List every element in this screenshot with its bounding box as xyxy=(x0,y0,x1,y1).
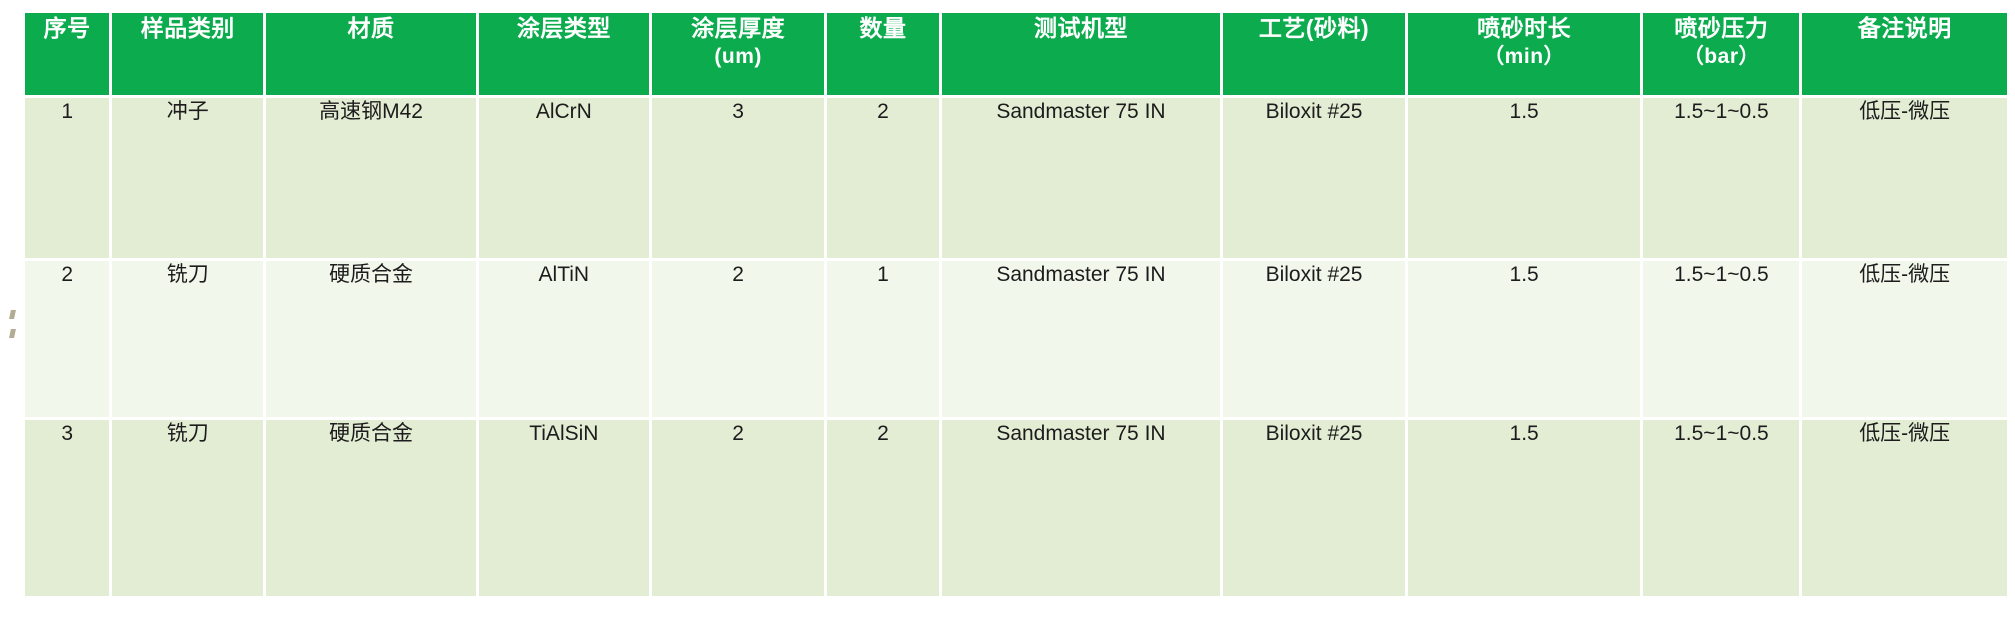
cell-process-media: Biloxit #25 xyxy=(1223,98,1405,258)
cell-blast-pressure: 1.5~1~0.5 xyxy=(1643,420,1799,596)
cell-blast-pressure: 1.5~1~0.5 xyxy=(1643,261,1799,417)
cell-material: 高速钢M42 xyxy=(266,98,476,258)
column-header-blast-pressure-label: 喷砂压力 xyxy=(1674,15,1768,41)
column-header-test-machine: 测试机型 xyxy=(942,13,1221,95)
header-row: 序号 样品类别 材质 涂层类型 涂层厚度 (um) 数量 xyxy=(25,13,2007,95)
cell-remark: 低压-微压 xyxy=(1802,261,2007,417)
column-header-quantity: 数量 xyxy=(827,13,938,95)
cell-sample-type: 铣刀 xyxy=(112,261,263,417)
cell-test-machine: Sandmaster 75 IN xyxy=(942,420,1221,596)
cell-remark: 低压-微压 xyxy=(1802,98,2007,258)
cell-no: 2 xyxy=(25,261,109,417)
column-header-process-media-label: 工艺(砂料) xyxy=(1259,15,1369,41)
column-header-remark: 备注说明 xyxy=(1802,13,2007,95)
sandblast-parameters-table: 序号 样品类别 材质 涂层类型 涂层厚度 (um) 数量 xyxy=(22,10,2010,599)
cell-no: 1 xyxy=(25,98,109,258)
cell-blast-time: 1.5 xyxy=(1408,261,1641,417)
cell-remark: 低压-微压 xyxy=(1802,420,2007,596)
column-header-coating-type-label: 涂层类型 xyxy=(517,15,611,41)
table-header: 序号 样品类别 材质 涂层类型 涂层厚度 (um) 数量 xyxy=(25,13,2007,95)
cell-coating-thickness: 2 xyxy=(652,261,825,417)
cell-material: 硬质合金 xyxy=(266,261,476,417)
cell-blast-time: 1.5 xyxy=(1408,98,1641,258)
column-header-blast-pressure-unit: （bar） xyxy=(1643,43,1799,71)
table-row: 2 铣刀 硬质合金 AlTiN 2 1 Sandmaster 75 IN Bil… xyxy=(25,261,2007,417)
column-header-coating-type: 涂层类型 xyxy=(479,13,649,95)
column-header-coating-thickness-label: 涂层厚度 xyxy=(691,15,785,41)
column-header-test-machine-label: 测试机型 xyxy=(1034,15,1128,41)
cell-process-media: Biloxit #25 xyxy=(1223,420,1405,596)
cell-quantity: 2 xyxy=(827,420,938,596)
cell-sample-type: 铣刀 xyxy=(112,420,263,596)
table-body: 1 冲子 高速钢M42 AlCrN 3 2 Sandmaster 75 IN B… xyxy=(25,98,2007,596)
cell-blast-pressure: 1.5~1~0.5 xyxy=(1643,98,1799,258)
column-header-coating-thickness-unit: (um) xyxy=(652,43,825,71)
cell-process-media: Biloxit #25 xyxy=(1223,261,1405,417)
table-row: 1 冲子 高速钢M42 AlCrN 3 2 Sandmaster 75 IN B… xyxy=(25,98,2007,258)
cell-test-machine: Sandmaster 75 IN xyxy=(942,98,1221,258)
column-header-remark-label: 备注说明 xyxy=(1858,15,1952,41)
column-header-sample-type-label: 样品类别 xyxy=(141,15,235,41)
cell-test-machine: Sandmaster 75 IN xyxy=(942,261,1221,417)
left-edge-artifact xyxy=(4,300,20,340)
column-header-coating-thickness: 涂层厚度 (um) xyxy=(652,13,825,95)
cell-coating-type: TiAlSiN xyxy=(479,420,649,596)
screenshot-canvas: 序号 样品类别 材质 涂层类型 涂层厚度 (um) 数量 xyxy=(0,0,2015,637)
column-header-blast-time-unit: （min） xyxy=(1408,43,1641,71)
cell-material: 硬质合金 xyxy=(266,420,476,596)
cell-blast-time: 1.5 xyxy=(1408,420,1641,596)
column-header-material: 材质 xyxy=(266,13,476,95)
column-header-process-media: 工艺(砂料) xyxy=(1223,13,1405,95)
cell-coating-type: AlTiN xyxy=(479,261,649,417)
cell-quantity: 2 xyxy=(827,98,938,258)
column-header-quantity-label: 数量 xyxy=(860,15,907,41)
column-header-no: 序号 xyxy=(25,13,109,95)
cell-coating-thickness: 2 xyxy=(652,420,825,596)
cell-coating-type: AlCrN xyxy=(479,98,649,258)
cell-sample-type: 冲子 xyxy=(112,98,263,258)
column-header-blast-time: 喷砂时长 （min） xyxy=(1408,13,1641,95)
column-header-blast-time-label: 喷砂时长 xyxy=(1477,15,1571,41)
cell-quantity: 1 xyxy=(827,261,938,417)
column-header-sample-type: 样品类别 xyxy=(112,13,263,95)
cell-coating-thickness: 3 xyxy=(652,98,825,258)
column-header-no-label: 序号 xyxy=(44,15,91,41)
cell-no: 3 xyxy=(25,420,109,596)
column-header-material-label: 材质 xyxy=(348,15,395,41)
column-header-blast-pressure: 喷砂压力 （bar） xyxy=(1643,13,1799,95)
table-row: 3 铣刀 硬质合金 TiAlSiN 2 2 Sandmaster 75 IN B… xyxy=(25,420,2007,596)
